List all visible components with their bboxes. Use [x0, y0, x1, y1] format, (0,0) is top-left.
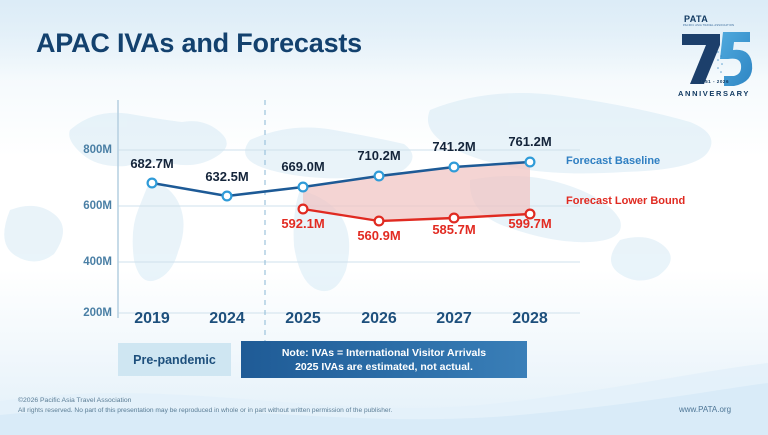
value-label-2024-baseline: 632.5M [187, 169, 267, 184]
data-point-2028-baseline[interactable] [526, 158, 535, 167]
legend-forecast-lower-bound: Forecast Lower Bound [566, 195, 685, 207]
x-tick-2024: 2024 [192, 310, 262, 328]
x-tick-2019: 2019 [117, 310, 187, 328]
y-tick-800m: 800M [56, 144, 112, 156]
value-label-2028-baseline: 761.2M [490, 134, 570, 149]
note-box: Note: IVAs = International Visitor Arriv… [241, 341, 527, 378]
slide-canvas: APAC IVAs and Forecasts [0, 0, 768, 435]
x-tick-2027: 2027 [419, 310, 489, 328]
website-link[interactable]: www.PATA.org [679, 405, 731, 414]
pre-pandemic-label: Pre-pandemic [118, 343, 231, 376]
x-tick-2026: 2026 [344, 310, 414, 328]
data-point-2026-lower[interactable] [375, 217, 384, 226]
value-label-2025-baseline: 669.0M [263, 159, 343, 174]
copyright-line-2: All rights reserved. No part of this pre… [18, 406, 392, 416]
value-label-2027-lower: 585.7M [414, 222, 494, 237]
x-tick-2028: 2028 [495, 310, 565, 328]
y-tick-200m: 200M [56, 307, 112, 319]
data-point-2019-baseline[interactable] [148, 179, 157, 188]
data-point-2024-baseline[interactable] [223, 192, 232, 201]
value-label-2019-baseline: 682.7M [112, 156, 192, 171]
value-label-2026-lower: 560.9M [339, 228, 419, 243]
data-point-2027-baseline[interactable] [450, 163, 459, 172]
copyright-line-1: ©2026 Pacific Asia Travel Association [18, 396, 392, 406]
data-point-2025-baseline[interactable] [299, 183, 308, 192]
value-label-2026-baseline: 710.2M [339, 148, 419, 163]
legend-forecast-baseline: Forecast Baseline [566, 155, 660, 167]
value-label-2027-baseline: 741.2M [414, 139, 494, 154]
y-tick-400m: 400M [56, 256, 112, 268]
copyright-block: ©2026 Pacific Asia Travel Association Al… [18, 396, 392, 416]
note-line-1: Note: IVAs = International Visitor Arriv… [282, 347, 486, 359]
data-point-2025-lower[interactable] [299, 205, 308, 214]
note-line-2: 2025 IVAs are estimated, not actual. [295, 361, 473, 373]
y-tick-600m: 600M [56, 200, 112, 212]
x-tick-2025: 2025 [268, 310, 338, 328]
value-label-2025-lower: 592.1M [263, 216, 343, 231]
value-label-2028-lower: 599.7M [490, 216, 570, 231]
data-point-2026-baseline[interactable] [375, 172, 384, 181]
